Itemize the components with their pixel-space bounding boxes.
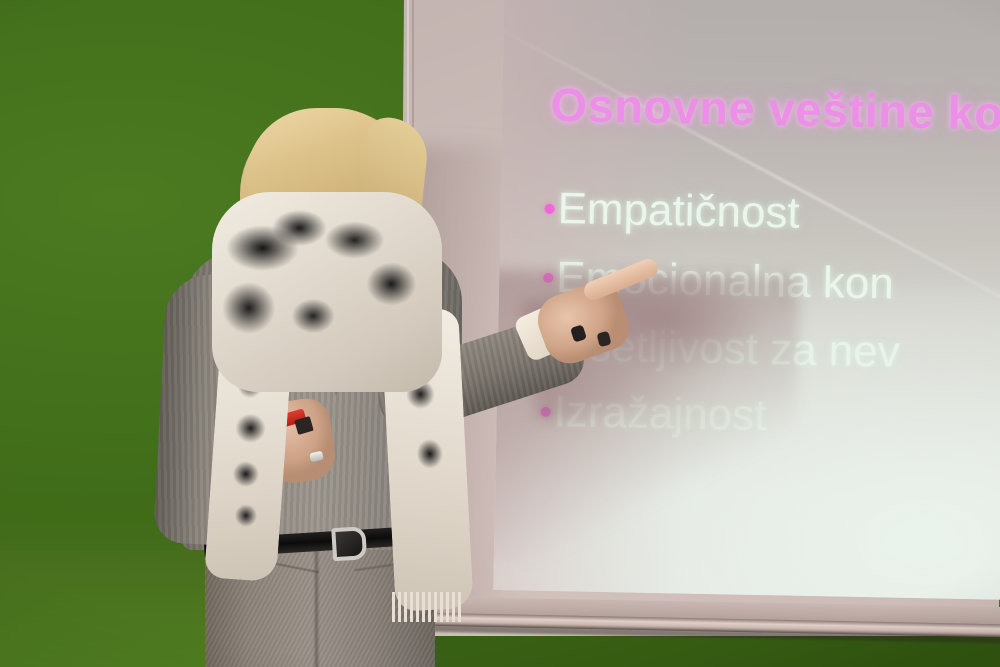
presenter <box>120 100 580 667</box>
belt-buckle <box>331 526 367 561</box>
slide-bullet-1-text: Empatičnost <box>557 184 800 239</box>
patterned-scarf <box>212 192 442 392</box>
slide-bullet-1: Empatičnost <box>544 184 800 239</box>
trouser-seam <box>315 546 318 667</box>
slide-title: Osnovne veštine ko <box>550 77 1000 141</box>
photo-scene: Osnovne veštine ko Empatičnost Emocional… <box>0 0 1000 667</box>
scarf-fringe <box>392 592 464 622</box>
